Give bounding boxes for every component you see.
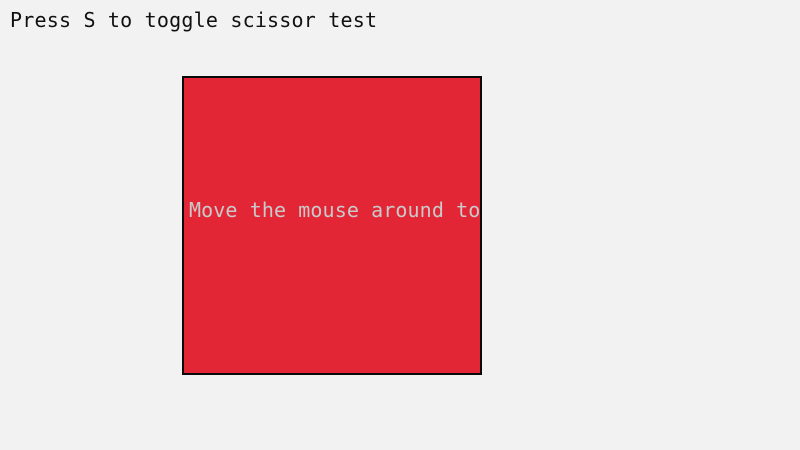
scissor-fill-rect — [184, 78, 480, 373]
app-canvas[interactable]: Press S to toggle scissor test Move the … — [0, 0, 800, 450]
scissor-region[interactable]: Move the mouse around to reveal more of … — [182, 76, 482, 375]
scissor-toggle-hint: Press S to toggle scissor test — [10, 7, 377, 33]
scissor-clipped-text: Move the mouse around to reveal more of … — [189, 198, 482, 222]
